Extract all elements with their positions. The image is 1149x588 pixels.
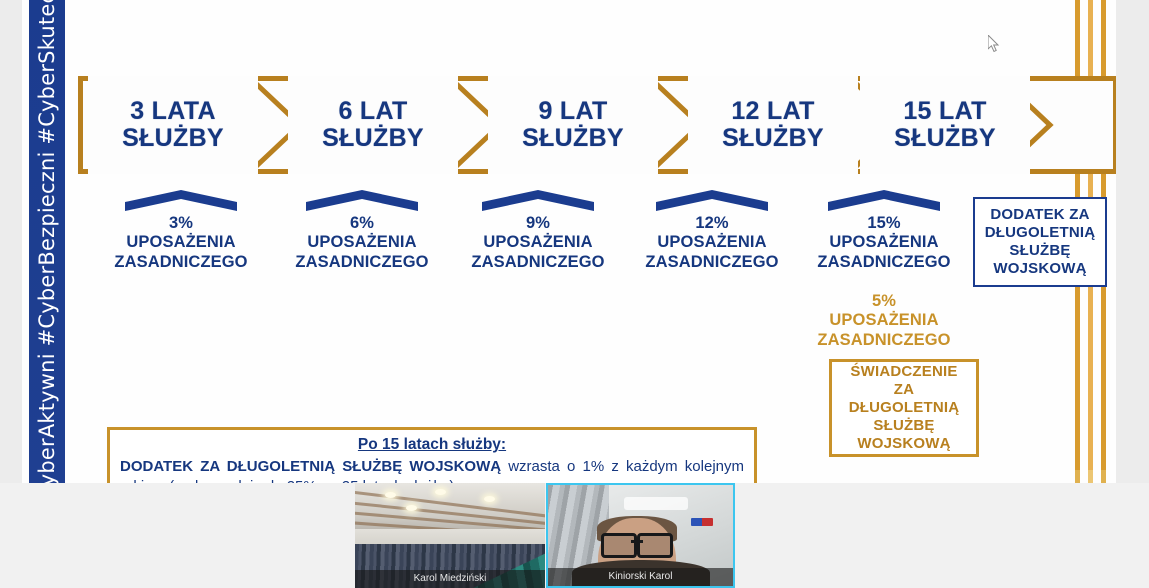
- percent-item-3: 9% UPOSAŻENIA ZASADNICZEGO: [438, 190, 638, 272]
- percent-item-4-line2: ZASADNICZEGO: [612, 253, 812, 272]
- percent-item-extra-text: 5% UPOSAŻENIA ZASADNICZEGO: [784, 292, 984, 350]
- percent-item-5-text: 15% UPOSAŻENIA ZASADNICZEGO: [784, 214, 984, 272]
- percent-item-extra-line1: UPOSAŻENIA: [784, 311, 984, 330]
- chevron-up-icon: [828, 190, 940, 212]
- hashtag-sidebar-text: #CyberAktywni #CyberBezpieczni #CyberSku…: [35, 0, 59, 483]
- note-box-body: DODATEK ZA DŁUGOLETNIĄ SŁUŻBĘ WOJSKOWĄ w…: [120, 457, 744, 483]
- percent-item-4: 12% UPOSAŻENIA ZASADNICZEGO: [612, 190, 812, 272]
- video-tile-2-name: Kiniorski Karol: [548, 568, 733, 586]
- gold-accent-lines-bottom: [1075, 470, 1116, 483]
- note-box: Po 15 latach służby: DODATEK ZA DŁUGOLET…: [107, 427, 757, 483]
- chevron-up-icon: [482, 190, 594, 212]
- percent-item-4-text: 12% UPOSAŻENIA ZASADNICZEGO: [612, 214, 812, 272]
- callout-dodatek-line2: DŁUGOLETNIĄ: [985, 224, 1096, 241]
- callout-dodatek-text: DODATEK ZA DŁUGOLETNIĄ SŁUŻBĘ WOJSKOWĄ: [985, 206, 1096, 278]
- process-step-4-line1: 12 LAT: [731, 97, 814, 125]
- process-step-2-line2: SŁUŻBY: [322, 124, 424, 152]
- callout-swiadczenie-line5: WOJSKOWĄ: [857, 435, 950, 452]
- note-box-title: Po 15 latach służby:: [120, 436, 744, 454]
- percent-item-2-line2: ZASADNICZEGO: [262, 253, 462, 272]
- process-step-5-line1: 15 LAT: [903, 97, 986, 125]
- video-thumbnail-strip: Karol Miedziński Kiniorski Karol: [0, 483, 1149, 588]
- callout-dodatek-line1: DODATEK ZA: [990, 206, 1089, 223]
- percent-item-extra-value: 5%: [784, 292, 984, 311]
- hashtag-sidebar: #CyberAktywni #CyberBezpieczni #CyberSku…: [29, 0, 65, 483]
- percent-item-2-text: 6% UPOSAŻENIA ZASADNICZEGO: [262, 214, 462, 272]
- chevron-up-icon: [125, 190, 237, 212]
- percent-item-3-value: 9%: [438, 214, 638, 233]
- process-chevron-band: 3 LATA SŁUŻBY 6 LAT SŁUŻBY 9 LAT SŁUŻBY: [78, 76, 1116, 174]
- callout-swiadczenie-line4: SŁUŻBĘ: [873, 417, 934, 434]
- percent-item-1-line1: UPOSAŻENIA: [81, 233, 281, 252]
- callout-swiadczenie-box: ŚWIADCZENIE ZA DŁUGOLETNIĄ SŁUŻBĘ WOJSKO…: [829, 359, 979, 457]
- callout-swiadczenie-text: ŚWIADCZENIE ZA DŁUGOLETNIĄ SŁUŻBĘ WOJSKO…: [849, 363, 960, 453]
- process-step-4-label: 12 LAT SŁUŻBY: [722, 98, 824, 152]
- percent-item-4-line1: UPOSAŻENIA: [612, 233, 812, 252]
- percent-item-5: 15% UPOSAŻENIA ZASADNICZEGO: [784, 190, 984, 272]
- process-step-3-line2: SŁUŻBY: [522, 124, 624, 152]
- percent-item-extra-line2: ZASADNICZEGO: [784, 331, 984, 350]
- slide-canvas: #CyberAktywni #CyberBezpieczni #CyberSku…: [22, 0, 1116, 483]
- note-box-body-strong: DODATEK ZA DŁUGOLETNIĄ SŁUŻBĘ WOJSKOWĄ: [120, 458, 501, 475]
- process-step-5-label: 15 LAT SŁUŻBY: [894, 98, 996, 152]
- chevron-up-icon: [656, 190, 768, 212]
- process-step-2-line1: 6 LAT: [338, 97, 407, 125]
- percent-item-2: 6% UPOSAŻENIA ZASADNICZEGO: [262, 190, 462, 272]
- percent-item-1-value: 3%: [81, 214, 281, 233]
- percent-item-5-line2: ZASADNICZEGO: [784, 253, 984, 272]
- video-tile-karol-miedzinski[interactable]: Karol Miedziński: [355, 483, 545, 588]
- callout-swiadczenie-line3: DŁUGOLETNIĄ: [849, 399, 960, 416]
- percent-item-1-line2: ZASADNICZEGO: [81, 253, 281, 272]
- presentation-viewer: #CyberAktywni #CyberBezpieczni #CyberSku…: [0, 0, 1149, 588]
- callout-swiadczenie-line2: ZA: [894, 381, 914, 398]
- percent-item-2-value: 6%: [262, 214, 462, 233]
- process-step-1-line2: SŁUŻBY: [122, 124, 224, 152]
- process-step-4[interactable]: 12 LAT SŁUŻBY: [688, 76, 858, 174]
- percent-item-extra: 5% UPOSAŻENIA ZASADNICZEGO: [784, 290, 984, 350]
- process-step-2[interactable]: 6 LAT SŁUŻBY: [288, 76, 458, 174]
- video-tile-1-name: Karol Miedziński: [355, 570, 545, 588]
- slide-stage: #CyberAktywni #CyberBezpieczni #CyberSku…: [0, 0, 1149, 483]
- percent-item-3-text: 9% UPOSAŻENIA ZASADNICZEGO: [438, 214, 638, 272]
- chevron-up-icon: [306, 190, 418, 212]
- percent-item-2-line1: UPOSAŻENIA: [262, 233, 462, 252]
- process-step-5[interactable]: 15 LAT SŁUŻBY: [860, 76, 1030, 174]
- process-step-3-label: 9 LAT SŁUŻBY: [522, 98, 624, 152]
- process-step-1-line1: 3 LATA: [130, 97, 216, 125]
- process-step-1-label: 3 LATA SŁUŻBY: [122, 98, 224, 152]
- percent-item-5-value: 15%: [784, 214, 984, 233]
- process-step-2-label: 6 LAT SŁUŻBY: [322, 98, 424, 152]
- percent-item-1: 3% UPOSAŻENIA ZASADNICZEGO: [81, 190, 281, 272]
- callout-dodatek-line4: WOJSKOWĄ: [993, 260, 1086, 277]
- percent-item-1-text: 3% UPOSAŻENIA ZASADNICZEGO: [81, 214, 281, 272]
- process-step-1[interactable]: 3 LATA SŁUŻBY: [88, 76, 258, 174]
- process-step-5-line2: SŁUŻBY: [894, 124, 996, 152]
- process-step-3[interactable]: 9 LAT SŁUŻBY: [488, 76, 658, 174]
- percent-item-5-line1: UPOSAŻENIA: [784, 233, 984, 252]
- video-tile-kiniorski-karol[interactable]: Kiniorski Karol: [546, 483, 735, 588]
- percent-item-4-value: 12%: [612, 214, 812, 233]
- callout-dodatek-box: DODATEK ZA DŁUGOLETNIĄ SŁUŻBĘ WOJSKOWĄ: [973, 197, 1107, 287]
- callout-swiadczenie-line1: ŚWIADCZENIE: [850, 363, 957, 380]
- callout-dodatek-line3: SŁUŻBĘ: [1009, 242, 1070, 259]
- process-step-4-line2: SŁUŻBY: [722, 124, 824, 152]
- percent-item-3-line2: ZASADNICZEGO: [438, 253, 638, 272]
- process-step-3-line1: 9 LAT: [538, 97, 607, 125]
- percent-item-3-line1: UPOSAŻENIA: [438, 233, 638, 252]
